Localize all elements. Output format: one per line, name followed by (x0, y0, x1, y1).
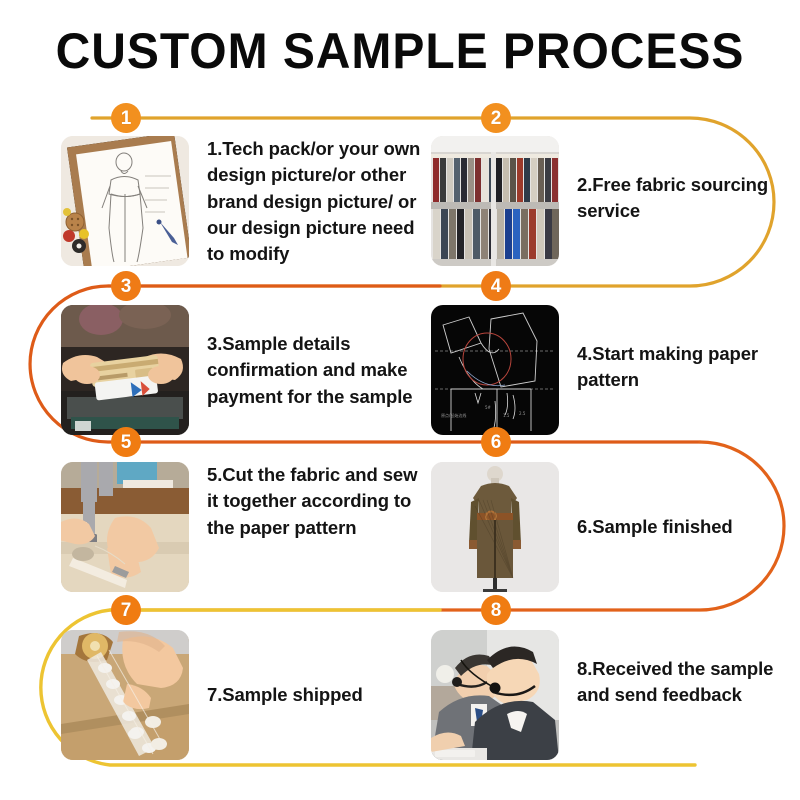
step-badge-6[interactable]: 6 (481, 427, 511, 457)
svg-text:2.5: 2.5 (519, 411, 526, 416)
step-3-caption: 3.Sample details confirmation and make p… (207, 331, 433, 410)
step-7-image (61, 630, 189, 760)
step-badge-3[interactable]: 3 (111, 271, 141, 301)
step-7-caption: 7.Sample shipped (207, 682, 433, 708)
step-badge-7[interactable]: 7 (111, 595, 141, 625)
process-step-8[interactable]: 8.Received the sample and send feedback (431, 630, 789, 760)
step-badge-5[interactable]: 5 (111, 427, 141, 457)
step-badge-8[interactable]: 8 (481, 595, 511, 625)
step-8-caption: 8.Received the sample and send feedback (577, 656, 789, 709)
step-4-caption: 4.Start making paper pattern (577, 341, 789, 394)
process-step-2[interactable]: 2.Free fabric sourcing service (431, 136, 789, 266)
step-5-image (61, 462, 189, 592)
step-badge-2[interactable]: 2 (481, 103, 511, 133)
process-step-6[interactable]: 6.Sample finished (431, 462, 789, 592)
step-badge-1[interactable]: 1 (111, 103, 141, 133)
process-step-3[interactable]: 3.Sample details confirmation and make p… (61, 305, 433, 435)
svg-text:1.5: 1.5 (503, 413, 510, 418)
step-3-image (61, 305, 189, 435)
step-6-caption: 6.Sample finished (577, 514, 789, 540)
step-1-image (61, 136, 189, 266)
step-8-image (431, 630, 559, 760)
step-6-image (431, 462, 559, 592)
svg-text:5#: 5# (485, 405, 492, 410)
process-step-4[interactable]: 原点/起始边线 5# 1.5 2.5 4.Start making paper … (431, 305, 789, 435)
step-2-image (431, 136, 559, 266)
step-5-caption: 5.Cut the fabric and sew it together acc… (207, 462, 433, 541)
process-step-7[interactable]: 7.Sample shipped (61, 630, 433, 760)
infographic-root: CUSTOM SAMPLE PROCESS 1 2 3 4 5 6 7 8 (0, 0, 800, 800)
step-4-image: 原点/起始边线 5# 1.5 2.5 (431, 305, 559, 435)
process-step-5[interactable]: 5.Cut the fabric and sew it together acc… (61, 462, 433, 592)
page-title: CUSTOM SAMPLE PROCESS (16, 22, 784, 80)
step-2-caption: 2.Free fabric sourcing service (577, 172, 789, 225)
svg-text:原点/起始边线: 原点/起始边线 (441, 412, 466, 418)
process-step-1[interactable]: 1.Tech pack/or your own design picture/o… (61, 136, 433, 267)
step-badge-4[interactable]: 4 (481, 271, 511, 301)
step-1-caption: 1.Tech pack/or your own design picture/o… (207, 136, 433, 267)
